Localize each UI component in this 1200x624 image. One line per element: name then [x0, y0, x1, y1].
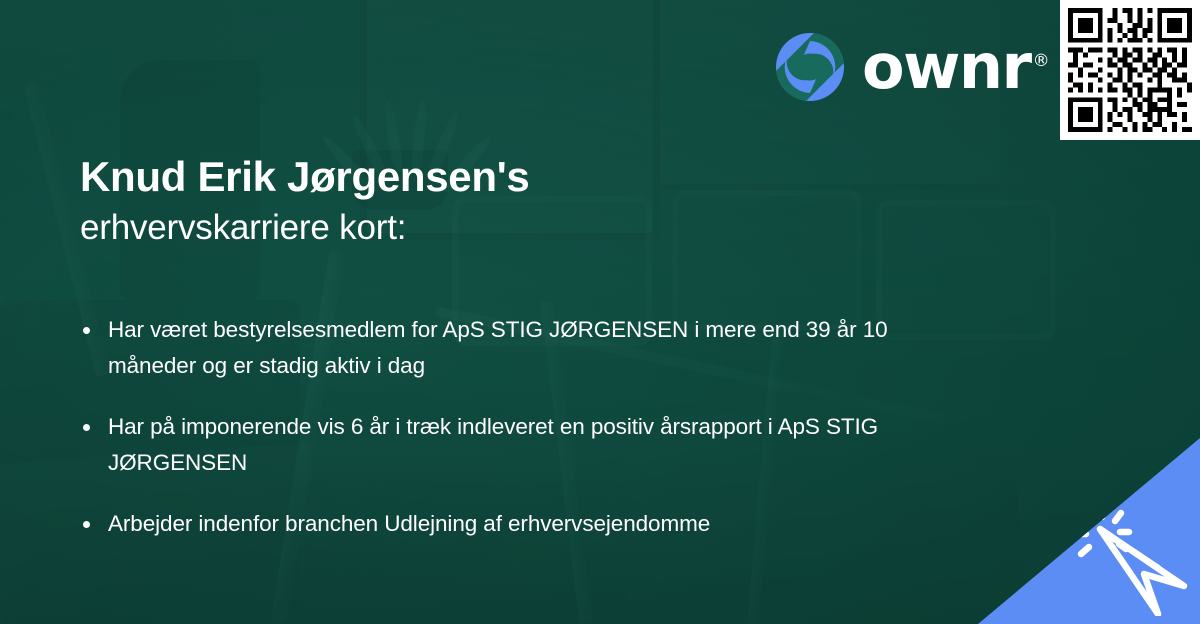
bullet-dot-icon	[83, 424, 90, 431]
page-title: Knud Erik Jørgensen's erhvervskarriere k…	[80, 152, 900, 250]
list-item-text: Arbejder indenfor branchen Udlejning af …	[108, 511, 710, 536]
list-item-text: Har på imponerende vis 6 år i træk indle…	[108, 414, 878, 475]
qr-code-image	[1068, 8, 1192, 132]
qr-code[interactable]	[1060, 0, 1200, 140]
bullet-dot-icon	[83, 327, 90, 334]
ownr-wordmark: ownr®	[862, 36, 1050, 98]
page-title-line2: erhvervskarriere kort:	[80, 206, 900, 251]
list-item: Har på imponerende vis 6 år i træk indle…	[83, 409, 963, 482]
list-item: Har været bestyrelsesmedlem for ApS STIG…	[83, 312, 963, 385]
ownr-logo[interactable]: ownr®	[776, 32, 1050, 102]
page-title-line1: Knud Erik Jørgensen's	[80, 152, 900, 202]
list-item-text: Har været bestyrelsesmedlem for ApS STIG…	[108, 317, 888, 378]
career-highlights-list: Har været bestyrelsesmedlem for ApS STIG…	[83, 312, 963, 542]
bullet-dot-icon	[83, 521, 90, 528]
ownr-circle-swoosh-logo	[776, 33, 844, 101]
business-career-card: ownr®	[0, 0, 1200, 624]
ownr-wordmark-text: ownr	[862, 30, 1031, 103]
registered-trademark-icon: ®	[1033, 51, 1050, 71]
list-item: Arbejder indenfor branchen Udlejning af …	[83, 506, 963, 542]
